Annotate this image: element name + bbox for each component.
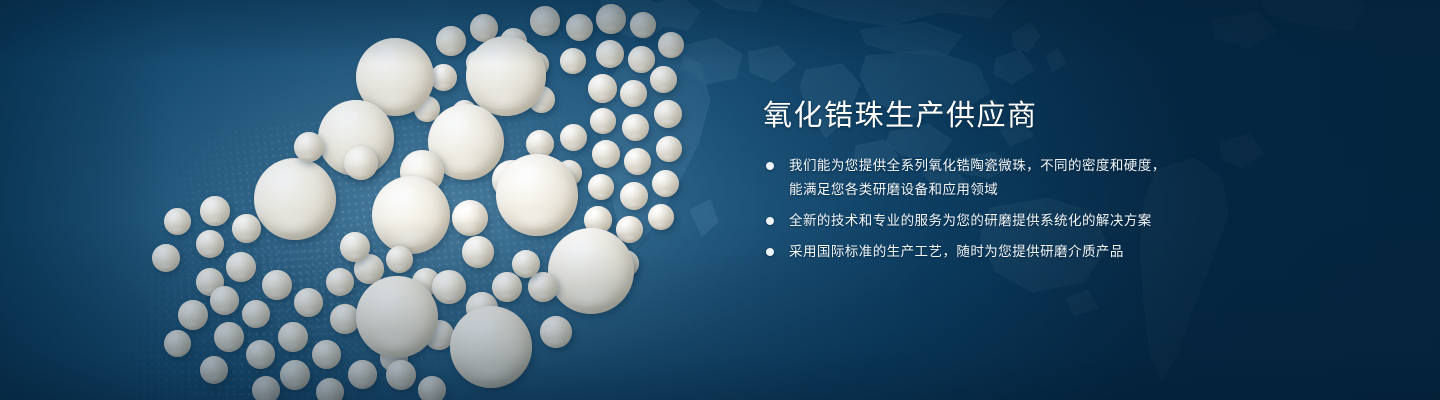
hero-banner: 氧化锆珠生产供应商 我们能为您提供全系列氧化锆陶瓷微珠，不同的密度和硬度， 能满… <box>0 0 1440 400</box>
bullet-dot-icon <box>766 162 774 170</box>
banner-title: 氧化锆珠生产供应商 <box>763 100 1363 132</box>
bullet-item-2: 全新的技术和专业的服务为您的研磨提供系统化的解决方案 <box>763 209 1363 233</box>
bullet-dot-icon <box>766 217 774 225</box>
bullet-item-3: 采用国际标准的生产工艺，随时为您提供研磨介质产品 <box>763 240 1363 264</box>
bullet-dot-icon <box>766 248 774 256</box>
banner-bullet-list: 我们能为您提供全系列氧化锆陶瓷微珠，不同的密度和硬度， 能满足您各类研磨设备和应… <box>763 154 1363 264</box>
bullet-text-1-line-2: 能满足您各类研磨设备和应用领域 <box>789 178 1363 202</box>
bullet-item-1: 我们能为您提供全系列氧化锆陶瓷微珠，不同的密度和硬度， 能满足您各类研磨设备和应… <box>763 154 1363 202</box>
bullet-text-3-line-1: 采用国际标准的生产工艺，随时为您提供研磨介质产品 <box>789 240 1363 264</box>
banner-content: 氧化锆珠生产供应商 我们能为您提供全系列氧化锆陶瓷微珠，不同的密度和硬度， 能满… <box>763 100 1363 264</box>
bullet-text-1-line-1: 我们能为您提供全系列氧化锆陶瓷微珠，不同的密度和硬度， <box>789 154 1363 178</box>
bullet-text-2-line-1: 全新的技术和专业的服务为您的研磨提供系统化的解决方案 <box>789 209 1363 233</box>
